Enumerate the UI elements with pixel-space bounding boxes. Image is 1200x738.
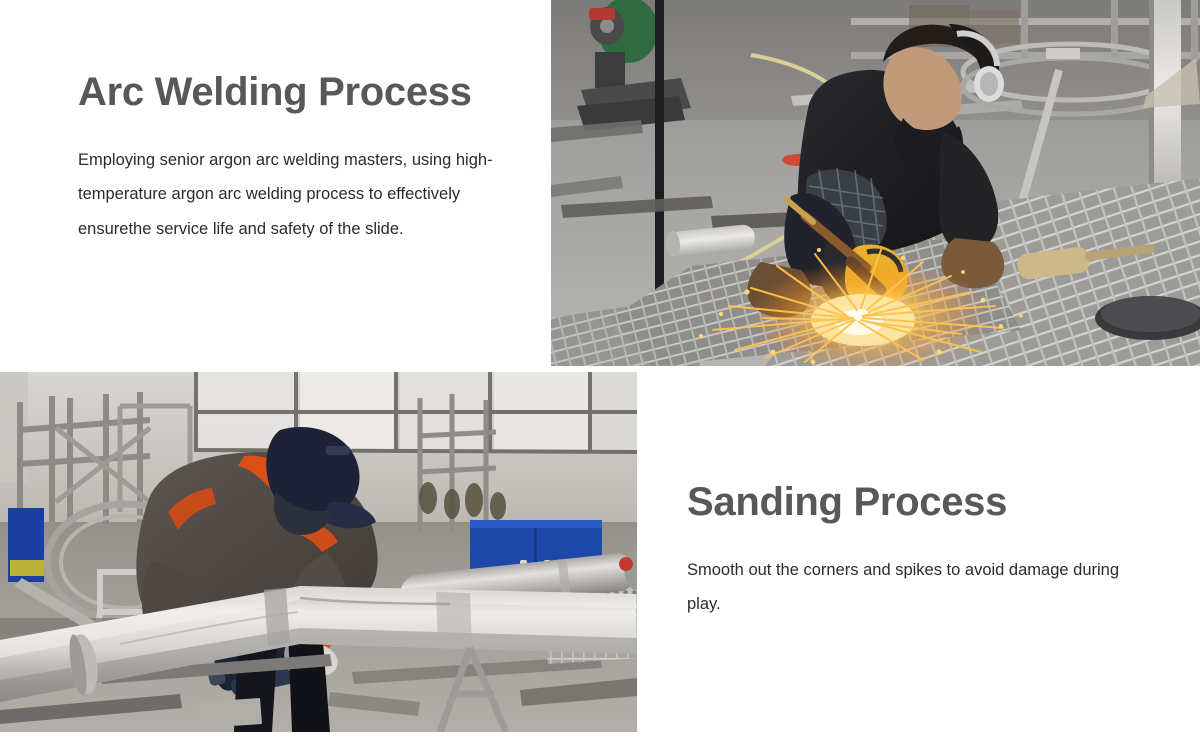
arc-welding-text-block: Arc Welding Process Employing senior arg… bbox=[78, 70, 508, 246]
arc-welding-photo bbox=[551, 0, 1200, 366]
sanding-description: Smooth out the corners and spikes to avo… bbox=[687, 553, 1119, 622]
arc-welding-description: Employing senior argon arc welding maste… bbox=[78, 143, 498, 246]
sanding-text-block: Sanding Process Smooth out the corners a… bbox=[687, 480, 1127, 622]
arc-welding-photo-graphic bbox=[551, 0, 1200, 366]
sanding-photo-graphic bbox=[0, 372, 637, 732]
sanding-photo bbox=[0, 372, 637, 732]
sanding-title: Sanding Process bbox=[687, 480, 1127, 525]
process-showcase-page: Arc Welding Process Employing senior arg… bbox=[0, 0, 1200, 738]
arc-welding-title: Arc Welding Process bbox=[78, 70, 508, 115]
